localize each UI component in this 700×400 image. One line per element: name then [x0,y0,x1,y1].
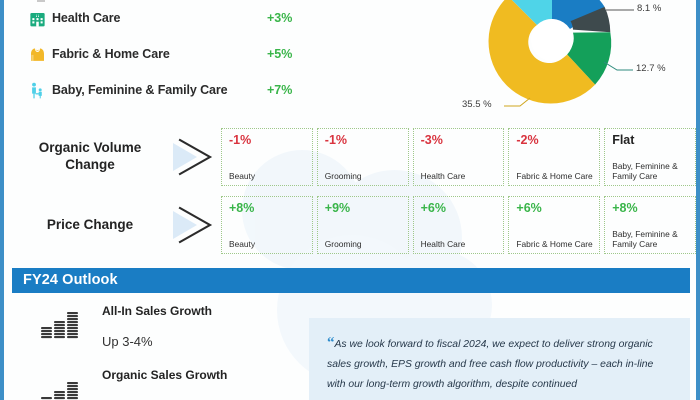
banner-title: FY24 Outlook [23,272,118,288]
metric-value: +8% [229,202,306,216]
segment-label: Fabric & Home Care [52,47,170,61]
metric-category: Grooming [325,171,362,181]
metric-value: +8% [612,202,689,216]
metric-cell: +6% Fabric & Home Care [508,196,600,254]
metric-value: +9% [325,202,402,216]
metric-value: Flat [612,134,689,148]
metric-value: -1% [229,134,306,148]
row-title-line2: Change [65,157,115,172]
segment-label: Health Care [52,11,120,25]
outlook-value: Up 3-4% [102,334,153,349]
segment-label: Baby, Feminine & Family Care [52,83,228,97]
family-icon [22,77,52,103]
list-item: Fabric & Home Care +5% [22,36,332,72]
metric-category: Grooming [325,239,362,249]
metric-category: Fabric & Home Care [516,171,592,181]
ceo-quote-box: “As we look forward to fiscal 2024, we e… [309,318,690,400]
segment-growth-value: +3% [267,11,292,25]
segment-growth-value: +7% [267,83,292,97]
metric-cell: +6% Health Care [413,196,505,254]
metric-cell: -1% Grooming [317,128,409,186]
metric-category: Fabric & Home Care [516,239,592,249]
metric-value: +6% [516,202,593,216]
segment-growth-value: +5% [267,47,292,61]
donut-label-3: 35.5 % [462,99,492,110]
metric-category: Beauty [229,171,255,181]
chevron-right-icon [167,204,222,246]
metric-category: Beauty [229,239,255,249]
metric-cell: +9% Grooming [317,196,409,254]
list-item: Baby, Feminine & Family Care +7% [22,72,332,108]
metric-category: Baby, Feminine & Family Care [612,161,695,182]
metric-cell: Flat Baby, Feminine & Family Care [604,128,696,186]
donut-chart: 8.1 % 12.7 % 35.5 % [434,0,700,122]
metric-cell: +8% Beauty [221,196,313,254]
metric-value: -1% [325,134,402,148]
hospital-icon [22,5,52,31]
donut-label-2: 12.7 % [636,63,666,74]
outlook-title: All-In Sales Growth [102,304,212,318]
metric-value: +6% [421,202,498,216]
shirt-icon [22,41,52,67]
metric-value: -3% [421,134,498,148]
metric-category: Health Care [421,171,466,181]
metric-cells: +8% Beauty +9% Grooming +6% Health Care … [221,196,696,254]
metric-value: -2% [516,134,593,148]
metric-cell: +8% Baby, Feminine & Family Care [604,196,696,254]
metric-cell: -1% Beauty [221,128,313,186]
chevron-right-icon [167,136,222,178]
row-title: Price Change [20,196,160,254]
metric-cell: -3% Health Care [413,128,505,186]
quote-mark-icon: “ [327,335,335,351]
segment-growth-list: Health Care +3% Fabric & Home Care +5% [22,0,332,108]
row-title-line1: Organic Volume [39,140,142,155]
metric-category: Baby, Feminine & Family Care [612,229,695,250]
price-change-row: Price Change +8% Beauty +9% Grooming +6%… [12,196,696,254]
organic-volume-change-row: Organic Volume Change -1% Beauty -1% Gro… [12,128,696,186]
metric-cell: -2% Fabric & Home Care [508,128,600,186]
outlook-title: Organic Sales Growth [102,368,227,382]
coin-stacks-icon [40,310,84,340]
fy24-outlook-banner: FY24 Outlook [12,268,690,293]
metric-category: Health Care [421,239,466,249]
row-title: Organic Volume Change [20,128,160,186]
list-item: Health Care +3% [22,0,332,36]
donut-label-1: 8.1 % [637,3,661,14]
coin-stacks-icon [40,374,84,400]
report-page: Health Care +3% Fabric & Home Care +5% [0,0,700,400]
quote-text: As we look forward to fiscal 2024, we ex… [327,339,653,390]
row-title-line1: Price Change [47,217,133,234]
metric-cells: -1% Beauty -1% Grooming -3% Health Care … [221,128,696,186]
